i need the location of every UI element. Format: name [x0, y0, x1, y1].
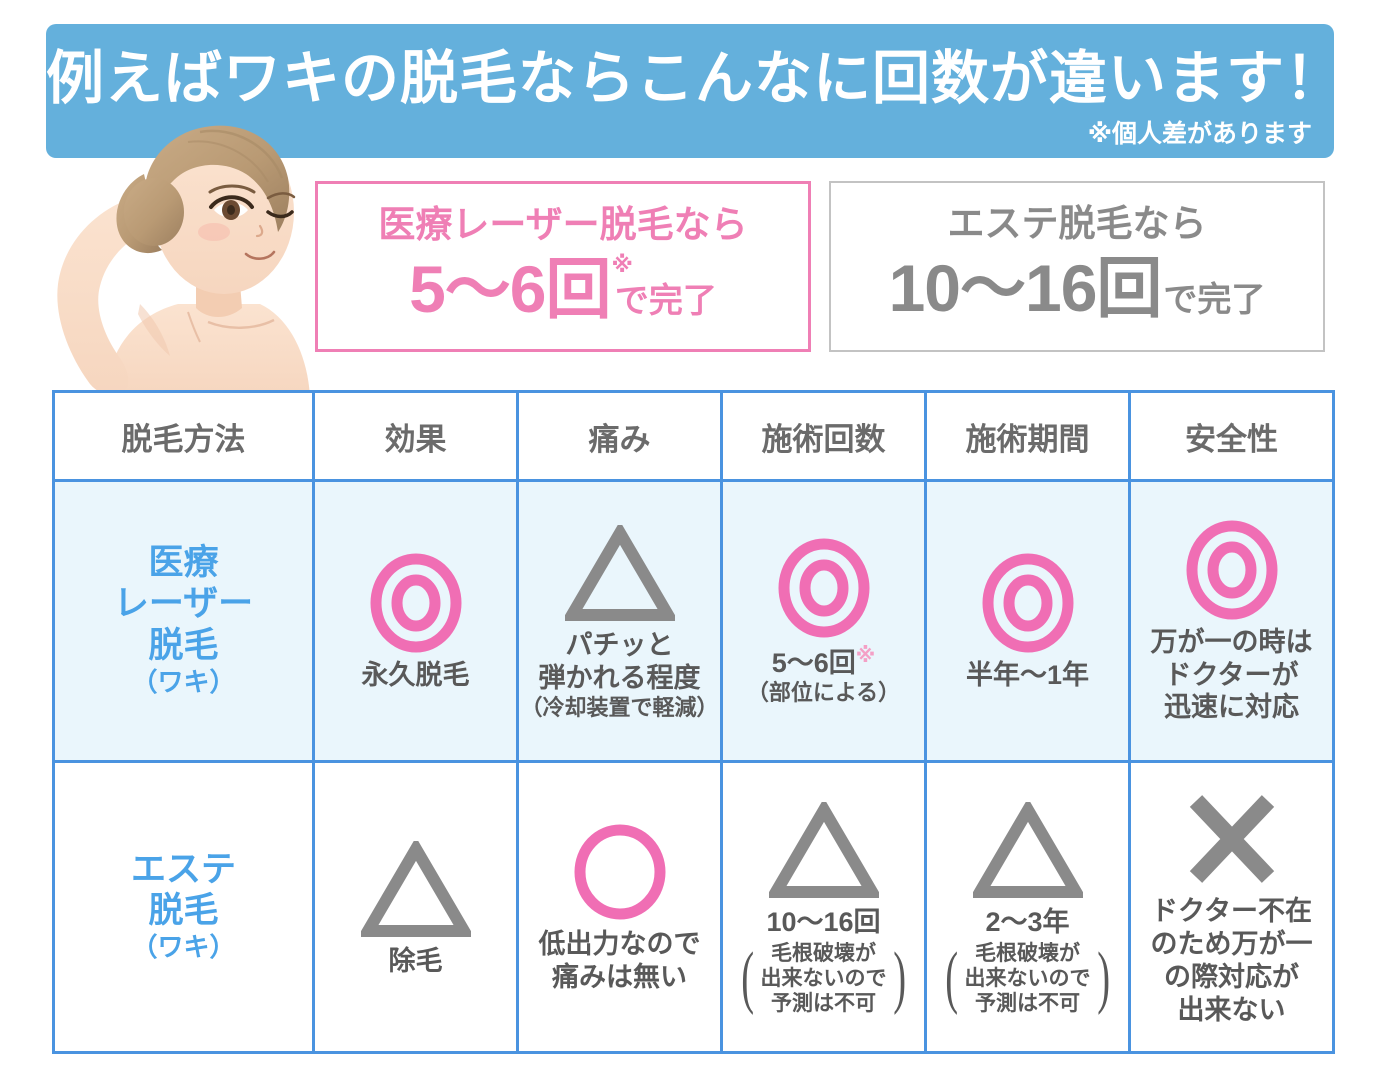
circle-icon [519, 820, 720, 924]
callout-laser: 医療レーザー脱毛なら 5〜6回※で完了 [315, 181, 811, 352]
cell-pain-laser-line1: パチッと [519, 629, 720, 662]
infographic-page: 例えばワキの脱毛ならこんなに回数が違います！ ※個人差があります [0, 0, 1378, 1074]
note-line-2: 出来ないので [760, 966, 888, 991]
cell-pain-laser: パチッと 弾かれる程度 （冷却装置で軽減） [518, 481, 722, 762]
bracket-close: ) [1097, 946, 1110, 1010]
method-line-1: エステ [55, 849, 312, 890]
header-safety: 安全性 [1130, 392, 1334, 481]
comparison-table: 脱毛方法 効果 痛み 施術回数 施術期間 安全性 医療 レーザー 脱毛 （ワキ） [52, 390, 1335, 1054]
triangle-icon [723, 798, 924, 902]
callout-laser-heading: 医療レーザー脱毛なら [318, 206, 808, 243]
method-line-1: 医療 [55, 542, 312, 583]
method-sub: （ワキ） [55, 666, 312, 700]
cell-period-salon-text: 2〜3年 [927, 906, 1128, 939]
double-circle-icon [1131, 518, 1332, 622]
bracket-open: ( [741, 946, 754, 1010]
cell-sessions-laser-note: （部位による） [723, 680, 924, 707]
cell-pain-laser-note: （冷却装置で軽減） [519, 695, 720, 722]
double-circle-icon [315, 551, 516, 655]
header-sessions: 施術回数 [722, 392, 926, 481]
table-row: 医療 レーザー 脱毛 （ワキ） 永久脱毛 パチッと 弾かれる程度 [54, 481, 1334, 762]
cell-pain-salon-line2: 痛みは無い [519, 961, 720, 994]
cell-safety-salon-line2: のため万が一 [1131, 928, 1332, 961]
header-banner: 例えばワキの脱毛ならこんなに回数が違います！ ※個人差があります [46, 24, 1334, 158]
cell-period-laser-text: 半年〜1年 [927, 659, 1128, 692]
cell-safety-laser-line2: ドクターが [1131, 659, 1332, 692]
cell-effect-salon-text: 除毛 [315, 945, 516, 978]
callout-salon-count: 10〜16回 [889, 251, 1162, 325]
cell-safety-salon: ドクター不在 のため万が一 の際対応が 出来ない [1130, 762, 1334, 1053]
cell-safety-laser-line3: 迅速に対応 [1131, 691, 1332, 724]
double-circle-icon [927, 551, 1128, 655]
cell-pain-salon: 低出力なので 痛みは無い [518, 762, 722, 1053]
cell-method-laser: 医療 レーザー 脱毛 （ワキ） [54, 481, 314, 762]
method-line-2: 脱毛 [55, 890, 312, 931]
note-line-2: 出来ないので [964, 966, 1092, 991]
cell-safety-salon-line1: ドクター不在 [1131, 895, 1332, 928]
method-line-3: 脱毛 [55, 625, 312, 666]
cell-sessions-salon-text: 10〜16回 [723, 906, 924, 939]
note-line-1: 毛根破壊が [760, 941, 888, 966]
cell-safety-laser: 万が一の時は ドクターが 迅速に対応 [1130, 481, 1334, 762]
header-period: 施術期間 [926, 392, 1130, 481]
cell-safety-salon-line3: の際対応が [1131, 961, 1332, 994]
callout-laser-count: 5〜6回 [409, 252, 610, 326]
callout-laser-mark: ※ [612, 254, 633, 276]
method-line-2: レーザー [55, 583, 312, 624]
note-line-1: 毛根破壊が [964, 941, 1092, 966]
callout-laser-suffix: で完了 [615, 282, 717, 320]
table-row: エステ 脱毛 （ワキ） 除毛 低出力なので 痛みは無い [54, 762, 1334, 1053]
header-effect: 効果 [314, 392, 518, 481]
cell-safety-salon-line4: 出来ない [1131, 994, 1332, 1027]
cell-period-salon-note: ( 毛根破壊が 出来ないので 予測は不可 ) [927, 941, 1128, 1017]
cell-effect-salon: 除毛 [314, 762, 518, 1053]
triangle-icon [927, 798, 1128, 902]
cross-icon [1131, 787, 1332, 891]
callout-salon-suffix: で完了 [1163, 281, 1265, 319]
cell-effect-laser-text: 永久脱毛 [315, 659, 516, 692]
cell-pain-salon-line1: 低出力なので [519, 928, 720, 961]
cell-sessions-laser: 5〜6回※ （部位による） [722, 481, 926, 762]
banner-title: 例えばワキの脱毛ならこんなに回数が違います！ [46, 50, 1334, 108]
triangle-icon [315, 837, 516, 941]
double-circle-icon [723, 536, 924, 640]
cell-sessions-salon-note: ( 毛根破壊が 出来ないので 予測は不可 ) [723, 941, 924, 1017]
cell-period-salon: 2〜3年 ( 毛根破壊が 出来ないので 予測は不可 ) [926, 762, 1130, 1053]
cell-sessions-laser-text: 5〜6回 [772, 648, 856, 678]
note-line-3: 予測は不可 [964, 991, 1092, 1016]
callout-salon: エステ脱毛なら 10〜16回で完了 [829, 181, 1325, 352]
header-method: 脱毛方法 [54, 392, 314, 481]
bracket-open: ( [945, 946, 958, 1010]
cell-pain-laser-line2: 弾かれる程度 [519, 662, 720, 695]
triangle-icon [519, 521, 720, 625]
banner-note: ※個人差があります [1088, 114, 1312, 150]
cell-sessions-laser-mark: ※ [856, 645, 875, 667]
cell-effect-laser: 永久脱毛 [314, 481, 518, 762]
bracket-close: ) [893, 946, 906, 1010]
cell-period-laser: 半年〜1年 [926, 481, 1130, 762]
callout-salon-heading: エステ脱毛なら [831, 205, 1323, 242]
table-header-row: 脱毛方法 効果 痛み 施術回数 施術期間 安全性 [54, 392, 1334, 481]
note-line-3: 予測は不可 [760, 991, 888, 1016]
cell-method-salon: エステ 脱毛 （ワキ） [54, 762, 314, 1053]
cell-sessions-salon: 10〜16回 ( 毛根破壊が 出来ないので 予測は不可 ) [722, 762, 926, 1053]
method-sub: （ワキ） [55, 931, 312, 965]
header-pain: 痛み [518, 392, 722, 481]
cell-safety-laser-line1: 万が一の時は [1131, 626, 1332, 659]
